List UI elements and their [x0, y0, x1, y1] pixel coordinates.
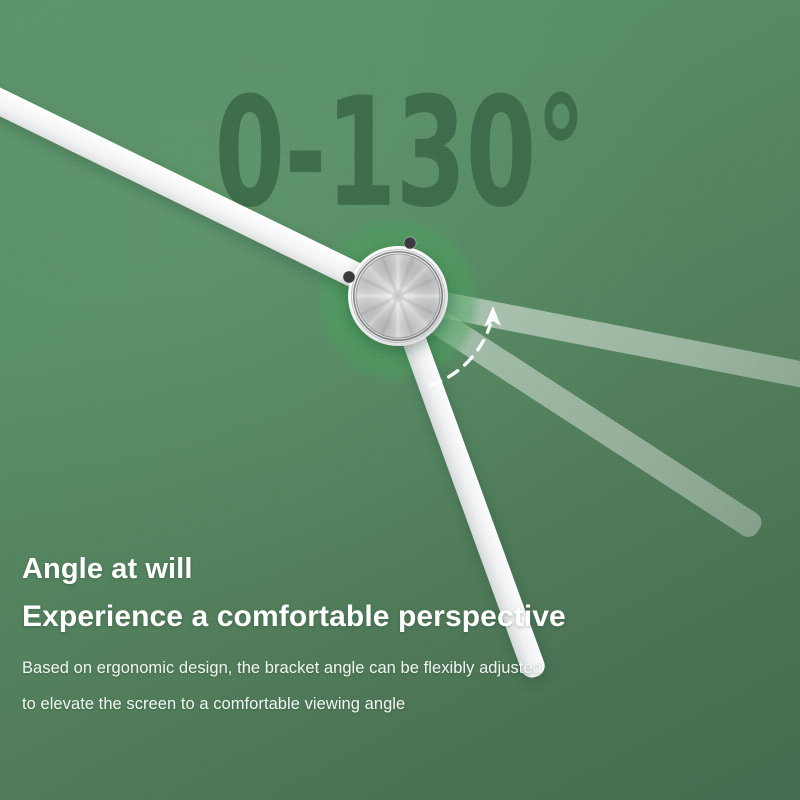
- headline-secondary: Experience a comfortable perspective: [22, 599, 662, 636]
- headline-primary: Angle at will: [22, 552, 662, 587]
- copy-block: Angle at will Experience a comfortable p…: [22, 552, 662, 728]
- product-feature-banner: 0-130°: [0, 0, 800, 800]
- upper-left-arm: [0, 77, 404, 307]
- body-text-line-2: to elevate the screen to a comfortable v…: [22, 692, 662, 717]
- body-text-line-1: Based on ergonomic design, the bracket a…: [22, 656, 662, 681]
